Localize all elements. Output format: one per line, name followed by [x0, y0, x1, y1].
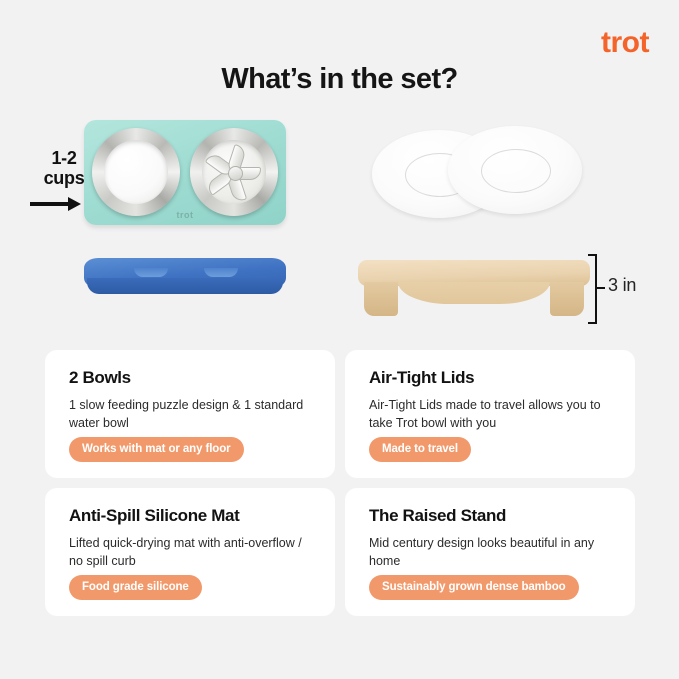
slow-feeder-bowl [190, 128, 278, 216]
lid-ring [481, 149, 551, 193]
feature-card-bowls: 2 Bowls 1 slow feeding puzzle design & 1… [45, 350, 335, 478]
stand-leg-right [550, 282, 584, 316]
arrow-shaft [30, 202, 70, 206]
brand-logo: trot [601, 28, 649, 58]
air-tight-lids-image [372, 126, 582, 221]
card-description: Air-Tight Lids made to travel allows you… [369, 397, 613, 433]
card-badge: Made to travel [369, 437, 471, 462]
slow-feeder-interior [202, 140, 266, 204]
card-title: Air-Tight Lids [369, 368, 613, 388]
card-description: Mid century design looks beautiful in an… [369, 535, 613, 571]
card-badge: Food grade silicone [69, 575, 202, 600]
mat-curb-edge [87, 278, 283, 294]
mat-bowl-notch [134, 268, 168, 277]
tray-brand-text: trot [177, 210, 194, 220]
arrow-right-icon [30, 197, 82, 211]
mat-bowl-notch [204, 268, 238, 277]
bowl-tray-image: trot [84, 120, 286, 225]
bamboo-stand-image [358, 260, 590, 320]
capacity-line-2: cups [44, 168, 85, 188]
arrow-head [68, 197, 81, 211]
card-badge: Works with mat or any floor [69, 437, 244, 462]
bowl-interior [104, 140, 168, 204]
hero-product-illustration: 1-2 cups trot [0, 110, 679, 335]
page-title: What’s in the set? [0, 63, 679, 96]
feature-card-mat: Anti-Spill Silicone Mat Lifted quick-dry… [45, 488, 335, 616]
capacity-line-1: 1-2 [51, 148, 76, 168]
stand-leg-left [364, 282, 398, 316]
card-title: The Raised Stand [369, 506, 613, 526]
measure-label: 3 in [608, 275, 636, 296]
standard-water-bowl [92, 128, 180, 216]
silicone-mat-image [84, 258, 286, 302]
height-measurement: 3 in [588, 254, 668, 326]
card-title: 2 Bowls [69, 368, 313, 388]
card-badge: Sustainably grown dense bamboo [369, 575, 579, 600]
measure-tick [596, 287, 605, 289]
lid-front [448, 126, 582, 214]
feature-card-stand: The Raised Stand Mid century design look… [345, 488, 635, 616]
card-description: Lifted quick-drying mat with anti-overfl… [69, 535, 313, 571]
feature-card-lids: Air-Tight Lids Air-Tight Lids made to tr… [345, 350, 635, 478]
feature-card-grid: 2 Bowls 1 slow feeding puzzle design & 1… [45, 350, 635, 616]
swirl-hub [228, 166, 243, 181]
measure-bracket [588, 254, 597, 324]
card-description: 1 slow feeding puzzle design & 1 standar… [69, 397, 313, 433]
card-title: Anti-Spill Silicone Mat [69, 506, 313, 526]
stand-arch [398, 282, 550, 304]
